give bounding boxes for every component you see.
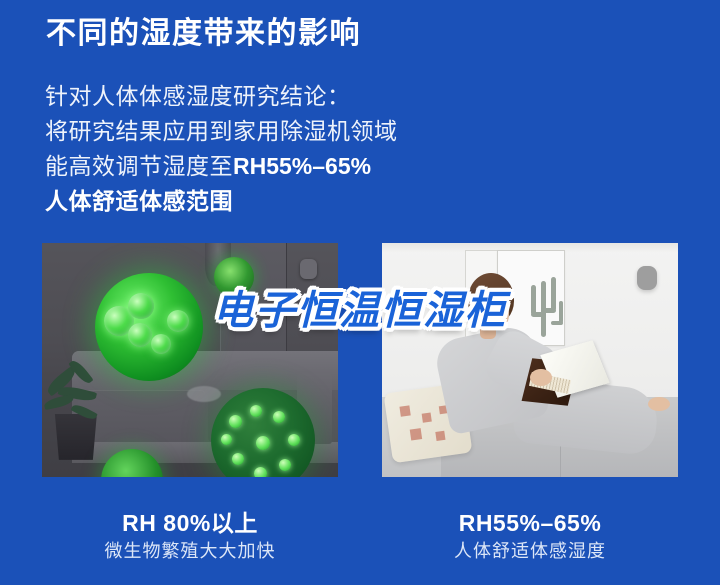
microbe-small-top: [214, 257, 254, 297]
caption-left: RH 80%以上 微生物繁殖大大加快: [42, 508, 338, 564]
poster-root: 不同的湿度带来的影响 针对人体体感湿度研究结论： 将研究结果应用到家用除湿机领域…: [0, 0, 720, 585]
dark-cushion-shape: [187, 386, 221, 402]
body-line-2: 将研究结果应用到家用除湿机领域: [45, 114, 665, 149]
body-line-3: 能高效调节湿度至RH55%–65%: [45, 149, 665, 184]
body-line-4: 人体舒适体感范围: [45, 184, 665, 219]
page-title: 不同的湿度带来的影响: [46, 16, 361, 52]
caption-left-subtitle: 微生物繁殖大大加快: [42, 538, 338, 564]
caption-right-title: RH55%–65%: [382, 508, 678, 538]
plant-leaf-shape: [43, 395, 74, 411]
caption-left-title: RH 80%以上: [42, 508, 338, 538]
wall-hook-shape: [637, 266, 657, 290]
bright-room-scene: [382, 243, 678, 477]
photo-panel-left: [42, 243, 338, 477]
microbe-cluster-large: [95, 273, 203, 381]
photo-panel-right: [382, 243, 678, 477]
body-copy: 针对人体体感湿度研究结论： 将研究结果应用到家用除湿机领域 能高效调节湿度至RH…: [45, 79, 665, 219]
caption-right-subtitle: 人体舒适体感湿度: [382, 538, 678, 564]
wall-knob-shape: [300, 259, 317, 279]
body-line-3-prefix: 能高效调节湿度至: [45, 153, 233, 179]
person-neck-shape: [480, 323, 496, 339]
body-line-1: 针对人体体感湿度研究结论：: [45, 79, 665, 114]
body-line-3-accent: RH55%–65%: [233, 153, 371, 179]
plant-pot-shape: [51, 414, 101, 460]
caption-right: RH55%–65% 人体舒适体感湿度: [382, 508, 678, 564]
dark-room-scene: [42, 243, 338, 477]
